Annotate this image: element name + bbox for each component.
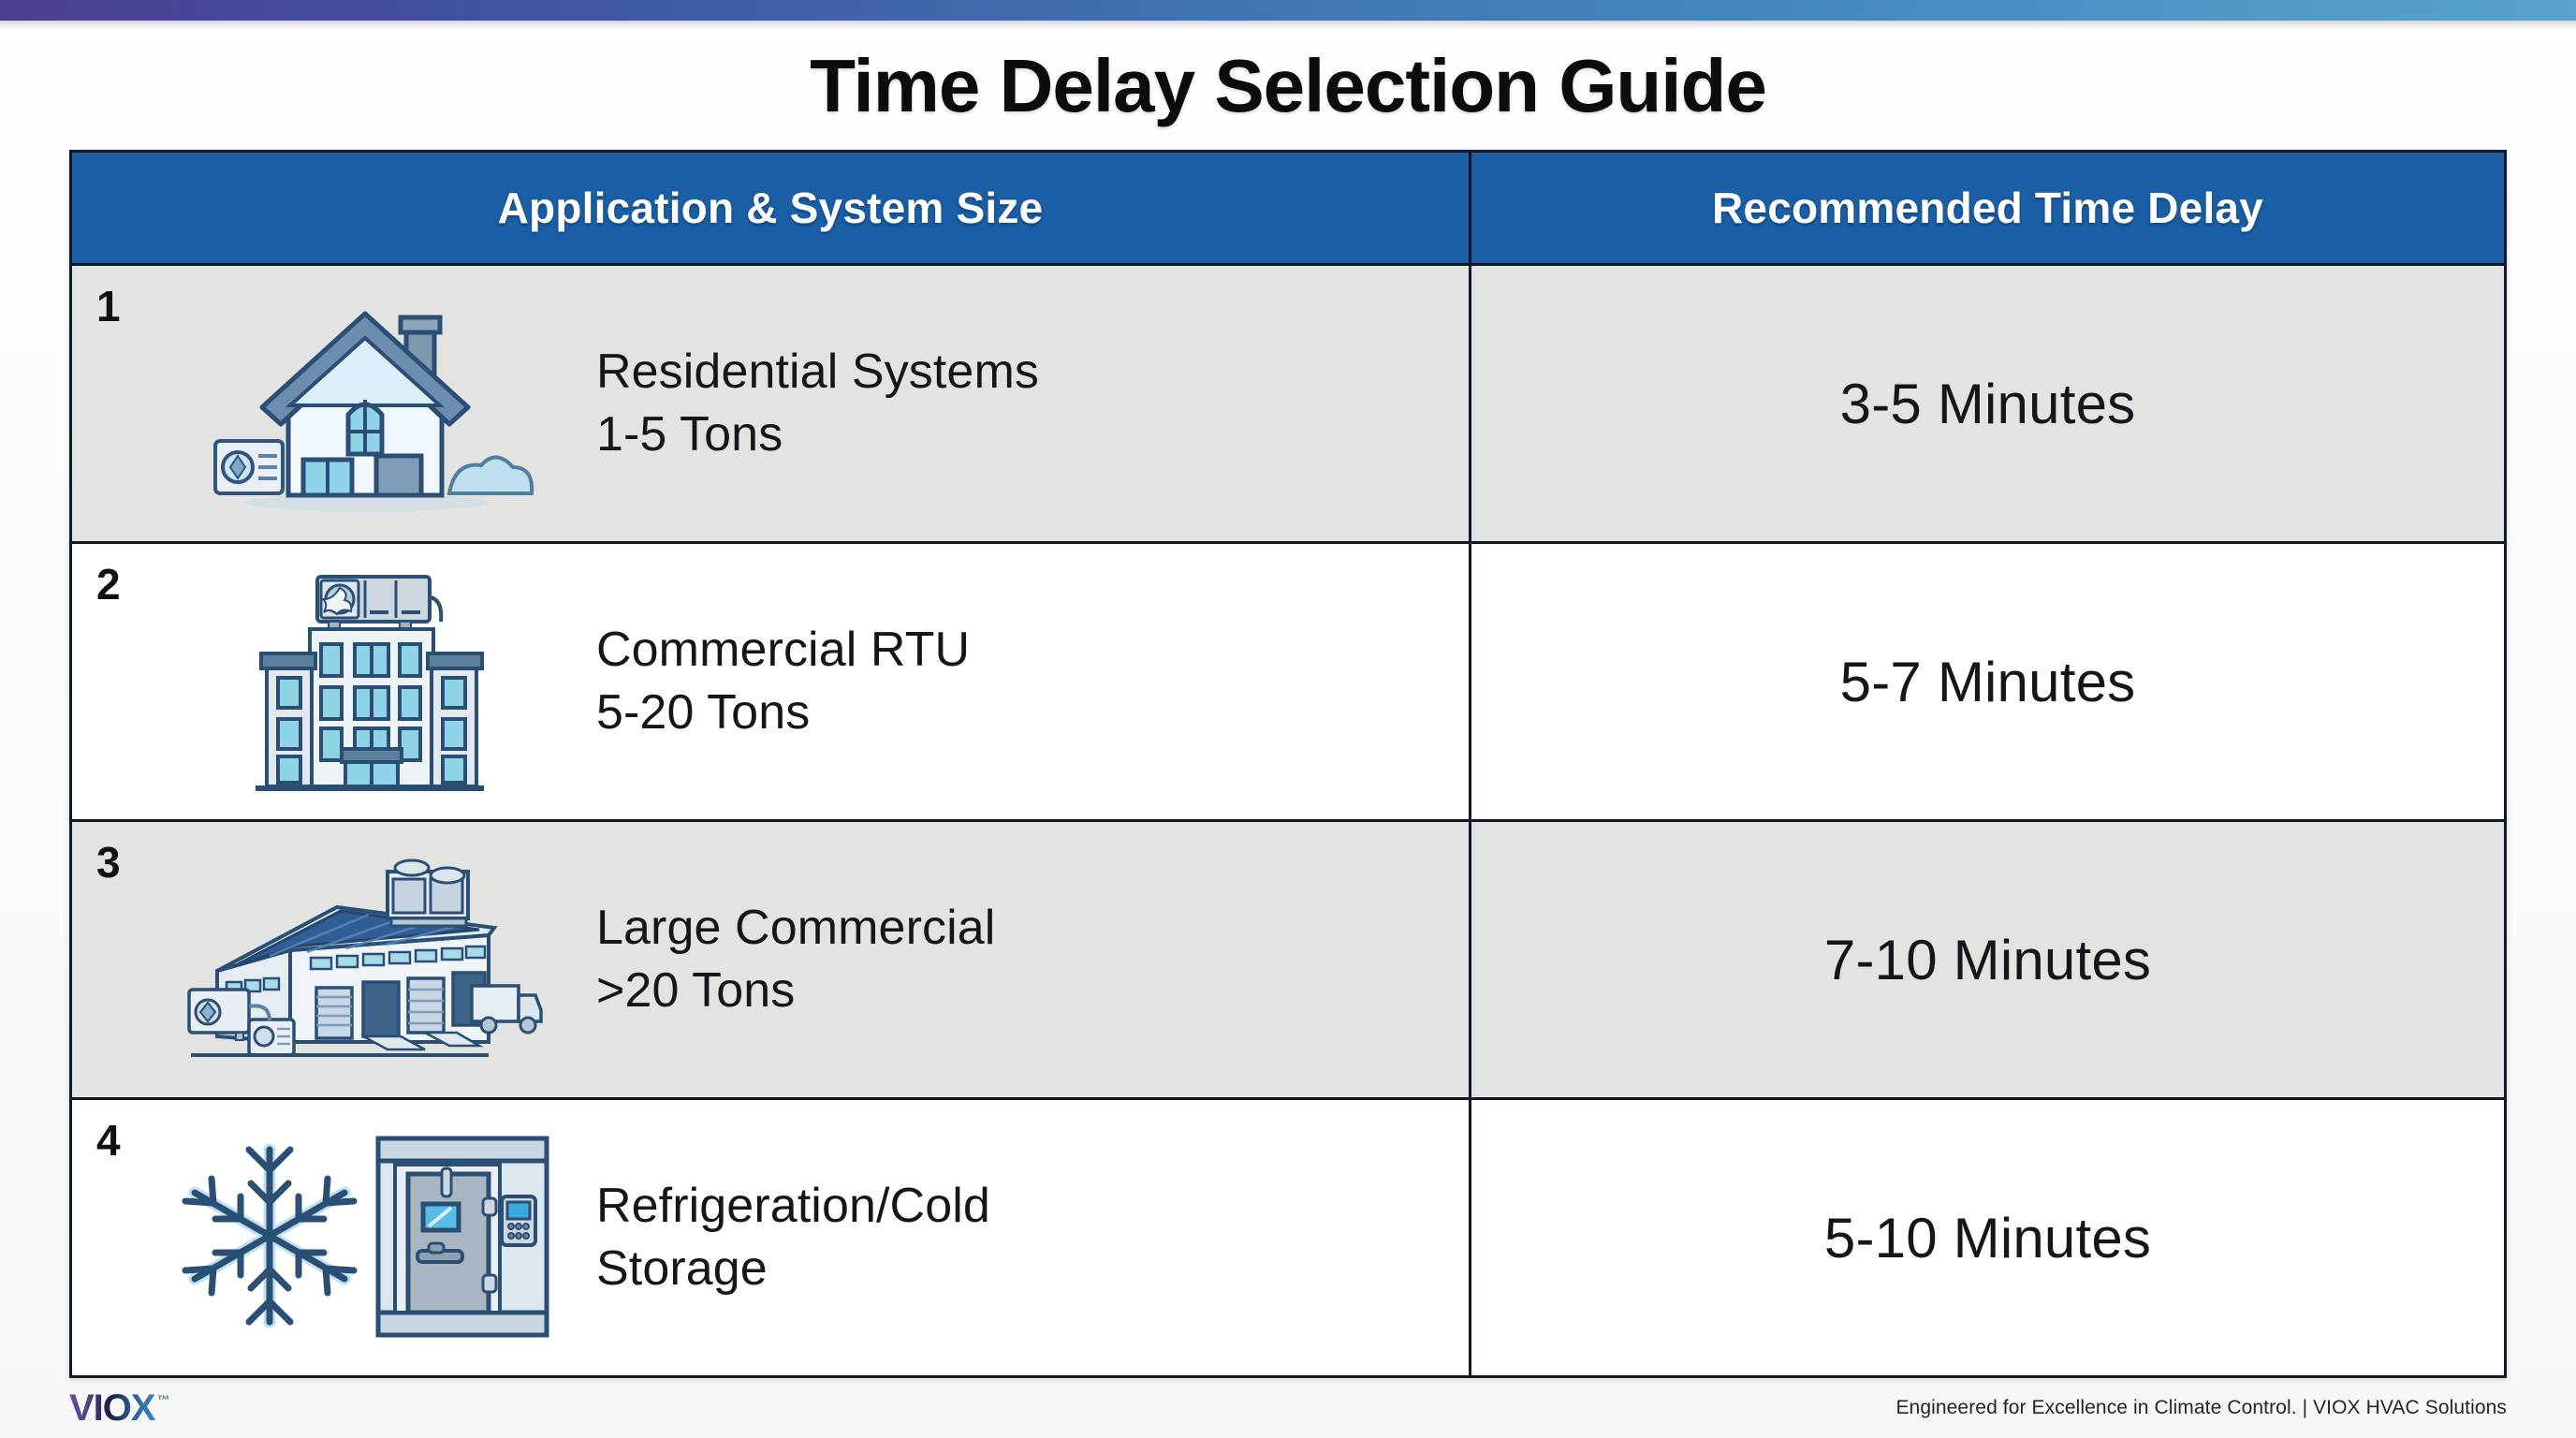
time-delay-value: 5-10 Minutes xyxy=(1824,1206,2151,1270)
application-line-1: Refrigeration/Cold xyxy=(596,1179,990,1233)
time-delay-cell: 7-10 Minutes xyxy=(1469,822,2504,1097)
viox-logo-text: VIOX xyxy=(69,1389,155,1427)
application-label: Commercial RTU 5-20 Tons xyxy=(596,619,970,743)
title-area: Time Delay Selection Guide xyxy=(0,30,2576,137)
row-number: 4 xyxy=(96,1115,121,1166)
commercial-building-rtu-icon-graphic xyxy=(212,560,521,803)
table-row: 4 xyxy=(72,1100,2504,1375)
application-label: Residential Systems 1-5 Tons xyxy=(596,341,1039,465)
footer: VIOX ™ Engineered for Excellence in Clim… xyxy=(0,1378,2576,1438)
application-line-2: Storage xyxy=(596,1238,990,1300)
top-bar-shadow xyxy=(0,21,2576,30)
time-delay-value: 7-10 Minutes xyxy=(1824,928,2151,992)
house-icon xyxy=(72,266,596,541)
row-number: 1 xyxy=(96,281,121,331)
column-header-time-delay: Recommended Time Delay xyxy=(1469,153,2504,263)
application-cell: 1 xyxy=(72,266,1469,541)
time-delay-table: Application & System Size Recommended Ti… xyxy=(69,150,2507,1378)
application-line-2: 1-5 Tons xyxy=(596,404,1039,466)
time-delay-value: 5-7 Minutes xyxy=(1840,650,2136,714)
application-line-1: Large Commercial xyxy=(596,901,995,955)
time-delay-cell: 5-10 Minutes xyxy=(1469,1100,2504,1375)
application-cell: 4 xyxy=(72,1100,1469,1375)
house-icon-graphic xyxy=(198,291,535,516)
row-number: 3 xyxy=(96,837,121,888)
warehouse-chiller-icon xyxy=(72,822,596,1097)
footer-tagline: Engineered for Excellence in Climate Con… xyxy=(1895,1397,2507,1419)
snowflake-cold-storage-icon xyxy=(72,1100,596,1375)
application-label: Refrigeration/Cold Storage xyxy=(596,1175,990,1299)
viox-logo: VIOX ™ xyxy=(69,1389,169,1427)
application-cell: 2 xyxy=(72,544,1469,819)
trademark-icon: ™ xyxy=(157,1393,169,1406)
time-delay-cell: 5-7 Minutes xyxy=(1469,544,2504,819)
application-label: Large Commercial >20 Tons xyxy=(596,897,995,1021)
warehouse-chiller-icon-graphic xyxy=(180,849,554,1070)
application-line-2: 5-20 Tons xyxy=(596,682,970,744)
snowflake-cold-storage-icon-graphic xyxy=(180,1116,554,1359)
table-row: 1 xyxy=(72,266,2504,544)
application-cell: 3 xyxy=(72,822,1469,1097)
time-delay-value: 3-5 Minutes xyxy=(1840,372,2136,436)
column-header-application: Application & System Size xyxy=(72,153,1469,263)
time-delay-cell: 3-5 Minutes xyxy=(1469,266,2504,541)
row-number: 2 xyxy=(96,559,121,609)
page-title: Time Delay Selection Guide xyxy=(0,47,2576,125)
commercial-building-rtu-icon xyxy=(72,544,596,819)
slide-root: Time Delay Selection Guide Application &… xyxy=(0,0,2576,1438)
table-header-row: Application & System Size Recommended Ti… xyxy=(72,153,2504,266)
table-row: 3 xyxy=(72,822,2504,1100)
application-line-1: Commercial RTU xyxy=(596,623,970,677)
application-line-2: >20 Tons xyxy=(596,960,995,1022)
application-line-1: Residential Systems xyxy=(596,345,1039,399)
top-gradient-bar xyxy=(0,0,2576,21)
table-row: 2 xyxy=(72,544,2504,822)
